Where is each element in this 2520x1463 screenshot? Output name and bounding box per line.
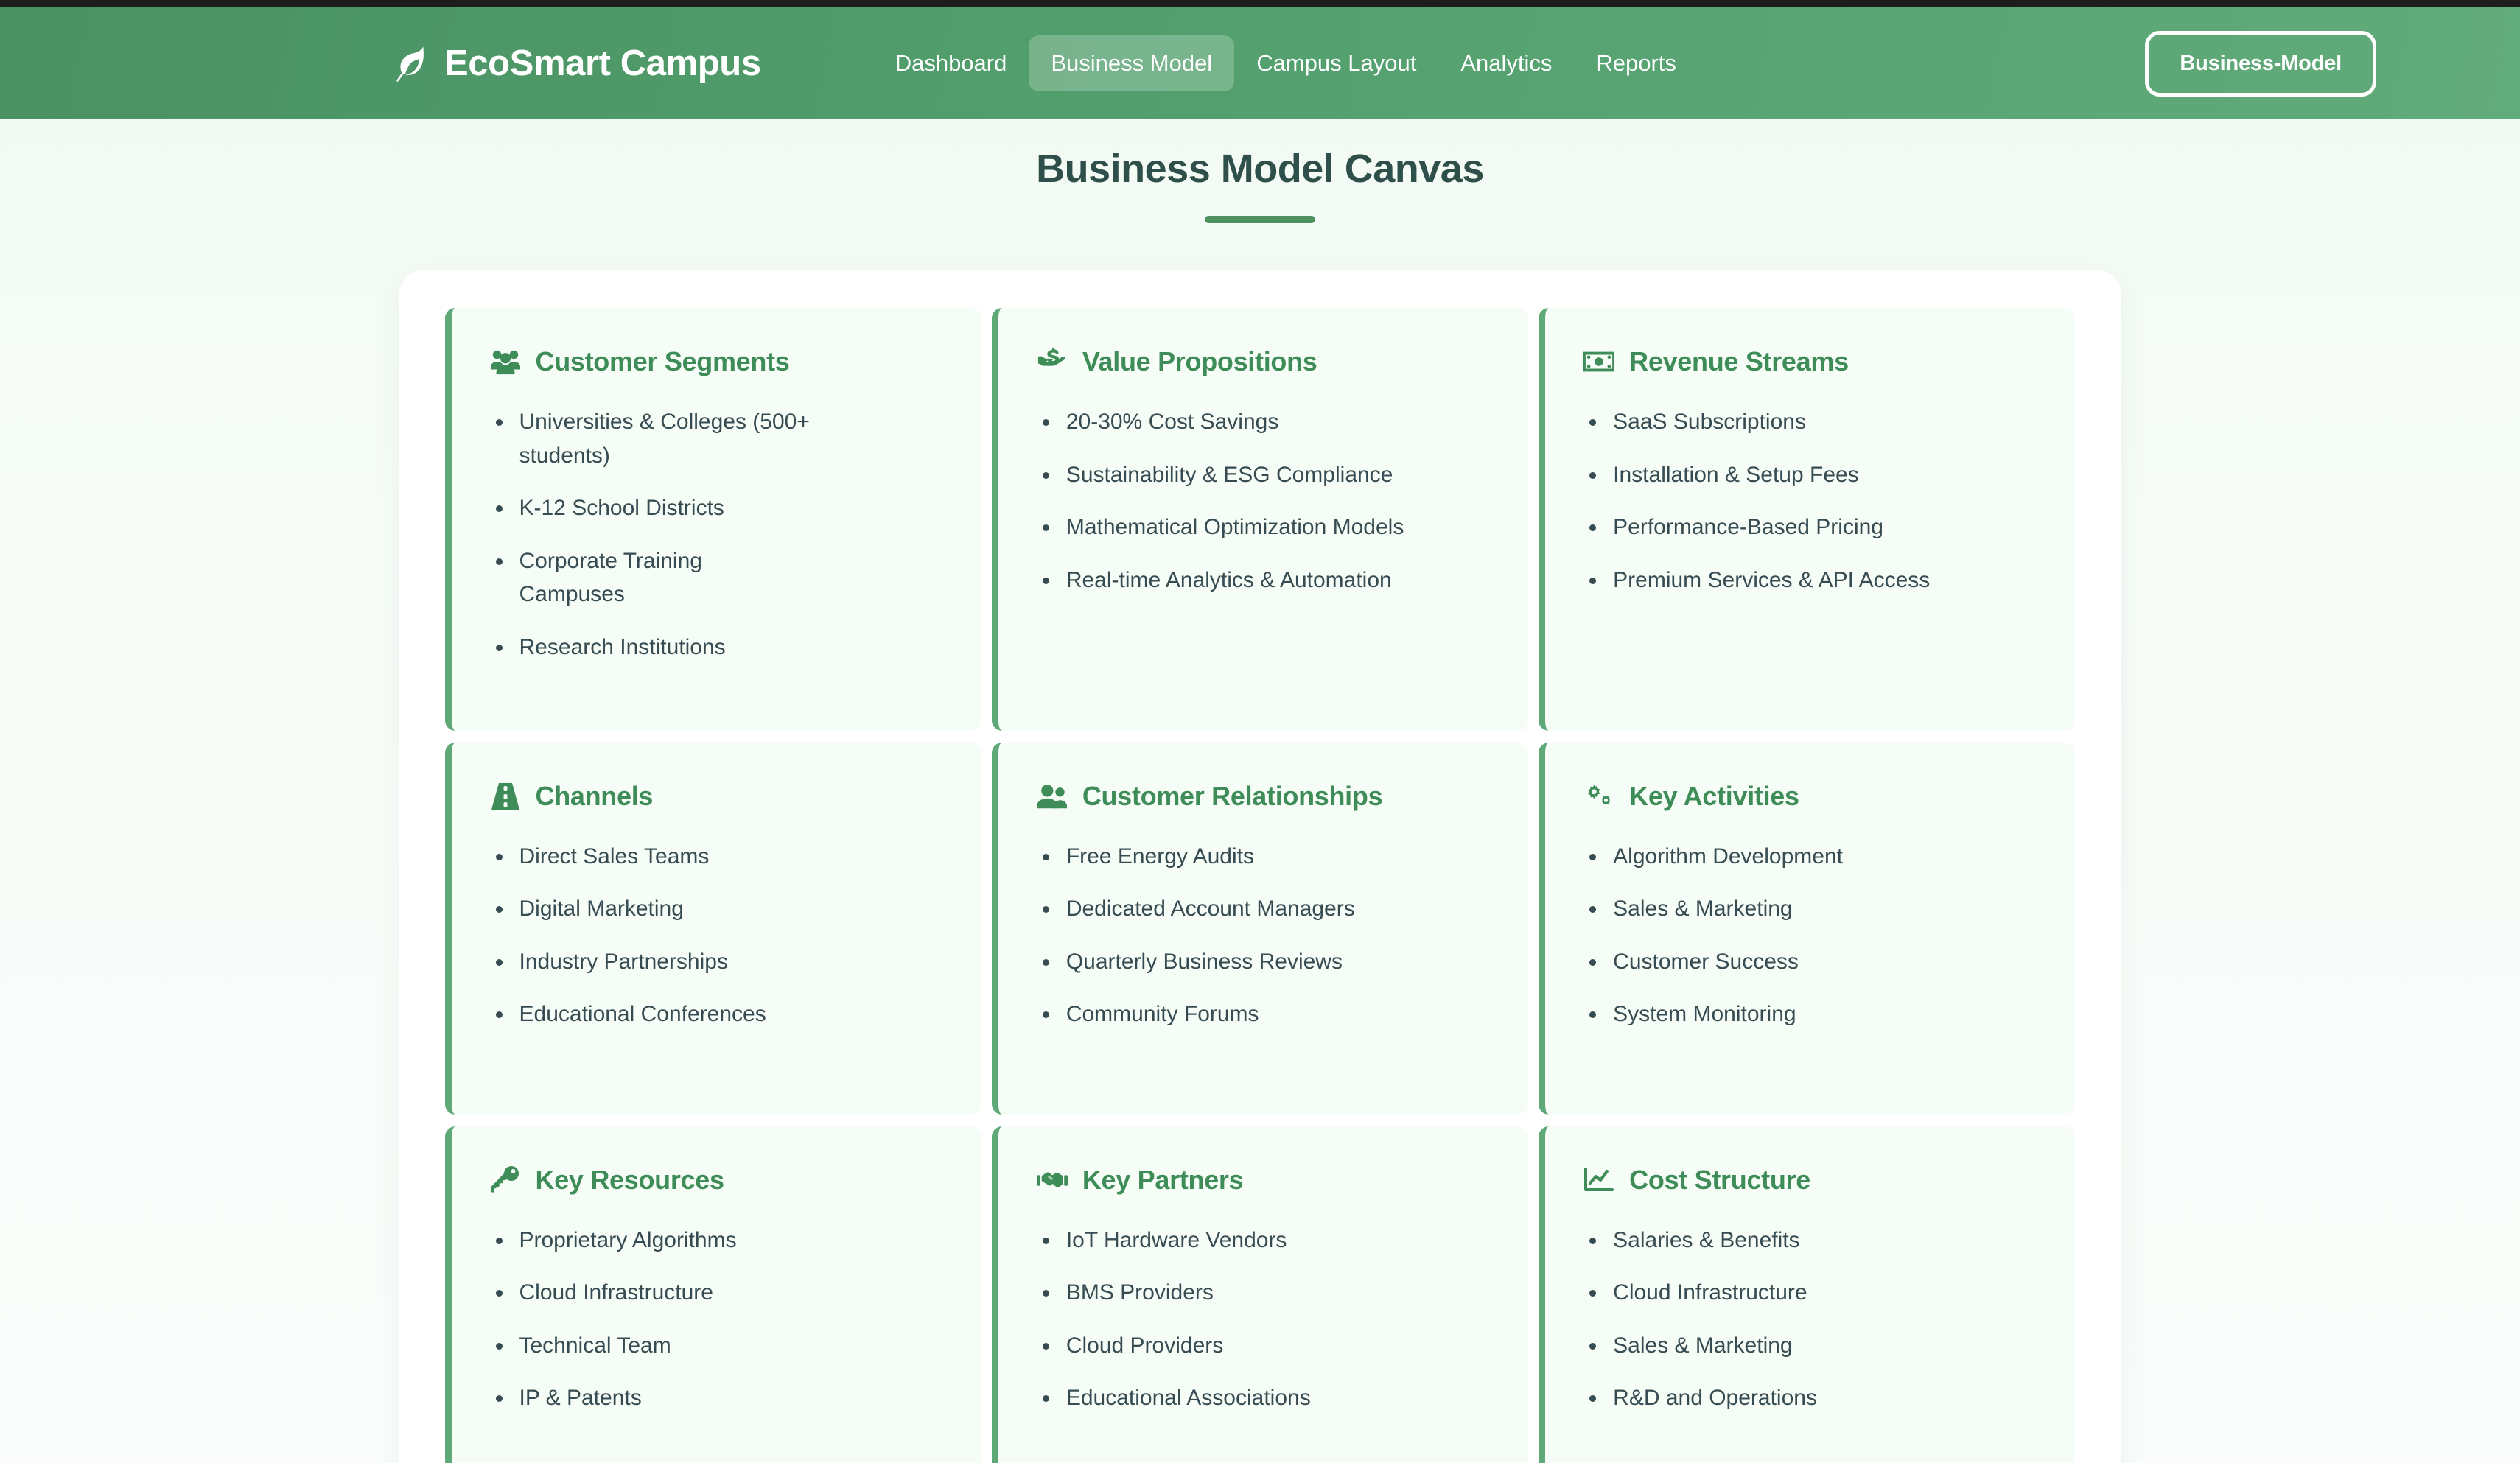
block-header: Key Activities xyxy=(1583,781,2040,812)
block-title: Key Partners xyxy=(1082,1165,1244,1196)
block-list-item: Quarterly Business Reviews xyxy=(1037,945,1493,979)
block-list-item: System Monitoring xyxy=(1583,997,2040,1031)
window-top-strip xyxy=(0,0,2520,7)
canvas-block-value-propositions: Value Propositions20-30% Cost SavingsSus… xyxy=(992,308,1528,731)
block-header: Cost Structure xyxy=(1583,1165,2040,1196)
block-list-item: Digital Marketing xyxy=(490,892,814,926)
block-list-item: Sales & Marketing xyxy=(1583,892,2040,926)
block-list-item: Research Institutions xyxy=(490,631,814,664)
block-list-item: Industry Partnerships xyxy=(490,945,814,979)
business-model-canvas-container: Customer SegmentsUniversities & Colleges… xyxy=(399,270,2121,1463)
users-group-icon xyxy=(490,346,521,377)
page-title: Business Model Canvas xyxy=(0,146,2520,192)
block-list-item: Technical Team xyxy=(490,1329,814,1363)
road-icon xyxy=(490,781,521,812)
canvas-block-customer-relationships: Customer RelationshipsFree Energy Audits… xyxy=(992,743,1528,1115)
block-item-list: SaaS SubscriptionsInstallation & Setup F… xyxy=(1583,405,2040,597)
block-header: Channels xyxy=(490,781,946,812)
nav-link-reports[interactable]: Reports xyxy=(1574,35,1698,91)
block-header: Customer Relationships xyxy=(1037,781,1493,812)
block-title: Channels xyxy=(536,781,654,812)
block-list-item: Corporate Training Campuses xyxy=(490,544,814,611)
block-header: Key Partners xyxy=(1037,1165,1493,1196)
block-header: Value Propositions xyxy=(1037,346,1493,377)
block-list-item: Customer Success xyxy=(1583,945,2040,979)
block-list-item: IoT Hardware Vendors xyxy=(1037,1224,1493,1257)
block-list-item: Educational Conferences xyxy=(490,997,814,1031)
nav-link-analytics[interactable]: Analytics xyxy=(1438,35,1574,91)
page-body: Business Model Canvas Customer SegmentsU… xyxy=(0,119,2520,1463)
nav-link-dashboard[interactable]: Dashboard xyxy=(873,35,1029,91)
canvas-grid: Customer SegmentsUniversities & Colleges… xyxy=(445,308,2076,1463)
chart-line-icon xyxy=(1583,1165,1614,1196)
nav-link-campus-layout[interactable]: Campus Layout xyxy=(1234,35,1438,91)
canvas-block-key-activities: Key ActivitiesAlgorithm DevelopmentSales… xyxy=(1539,743,2075,1115)
block-list-item: Proprietary Algorithms xyxy=(490,1224,814,1257)
key-icon xyxy=(490,1165,521,1196)
block-list-item: Cloud Providers xyxy=(1037,1329,1493,1363)
block-list-item: Algorithm Development xyxy=(1583,840,2040,874)
block-list-item: Real-time Analytics & Automation xyxy=(1037,564,1493,597)
hand-holding-dollar-icon xyxy=(1037,346,1068,377)
block-title: Value Propositions xyxy=(1082,346,1317,377)
block-title: Revenue Streams xyxy=(1629,346,1849,377)
block-list-item: Premium Services & API Access xyxy=(1583,564,2040,597)
canvas-block-key-partners: Key PartnersIoT Hardware VendorsBMS Prov… xyxy=(992,1126,1528,1463)
block-item-list: Salaries & BenefitsCloud InfrastructureS… xyxy=(1583,1224,2040,1415)
canvas-block-revenue-streams: Revenue StreamsSaaS SubscriptionsInstall… xyxy=(1539,308,2075,731)
page-title-section: Business Model Canvas xyxy=(0,119,2520,223)
block-list-item: K-12 School Districts xyxy=(490,491,814,525)
block-list-item: Cloud Infrastructure xyxy=(490,1276,814,1310)
business-model-badge-button[interactable]: Business-Model xyxy=(2145,31,2376,97)
cogs-icon xyxy=(1583,781,1614,812)
block-list-item: Sales & Marketing xyxy=(1583,1329,2040,1363)
title-underline-rule xyxy=(1205,216,1315,223)
block-list-item: Free Energy Audits xyxy=(1037,840,1493,874)
block-title: Cost Structure xyxy=(1629,1165,1810,1196)
block-list-item: Installation & Setup Fees xyxy=(1583,458,2040,492)
block-list-item: Educational Associations xyxy=(1037,1381,1493,1415)
canvas-block-key-resources: Key ResourcesProprietary AlgorithmsCloud… xyxy=(445,1126,981,1463)
block-list-item: Dedicated Account Managers xyxy=(1037,892,1493,926)
top-navbar: EcoSmart Campus Dashboard Business Model… xyxy=(0,7,2520,119)
block-item-list: IoT Hardware VendorsBMS ProvidersCloud P… xyxy=(1037,1224,1493,1415)
block-list-item: R&D and Operations xyxy=(1583,1381,2040,1415)
block-list-item: BMS Providers xyxy=(1037,1276,1493,1310)
brand-name: EcoSmart Campus xyxy=(444,43,761,84)
canvas-block-cost-structure: Cost StructureSalaries & BenefitsCloud I… xyxy=(1539,1126,2075,1463)
nav-link-business-model[interactable]: Business Model xyxy=(1029,35,1234,91)
block-title: Key Activities xyxy=(1629,781,1799,812)
block-list-item: Performance-Based Pricing xyxy=(1583,511,2040,544)
brand-logo[interactable]: EcoSmart Campus xyxy=(394,43,761,84)
block-list-item: Sustainability & ESG Compliance xyxy=(1037,458,1493,492)
block-item-list: Algorithm DevelopmentSales & MarketingCu… xyxy=(1583,840,2040,1031)
block-item-list: Proprietary AlgorithmsCloud Infrastructu… xyxy=(490,1224,946,1415)
block-title: Key Resources xyxy=(536,1165,724,1196)
block-header: Key Resources xyxy=(490,1165,946,1196)
canvas-block-channels: ChannelsDirect Sales TeamsDigital Market… xyxy=(445,743,981,1115)
block-title: Customer Segments xyxy=(536,346,790,377)
block-list-item: Universities & Colleges (500+ students) xyxy=(490,405,814,472)
block-list-item: IP & Patents xyxy=(490,1381,814,1415)
handshake-icon xyxy=(1037,1165,1068,1196)
block-list-item: SaaS Subscriptions xyxy=(1583,405,2040,439)
block-item-list: Universities & Colleges (500+ students)K… xyxy=(490,405,946,664)
block-list-item: Community Forums xyxy=(1037,997,1493,1031)
block-header: Customer Segments xyxy=(490,346,946,377)
block-list-item: 20-30% Cost Savings xyxy=(1037,405,1493,439)
block-list-item: Direct Sales Teams xyxy=(490,840,814,874)
leaf-icon xyxy=(394,44,428,83)
block-item-list: Direct Sales TeamsDigital MarketingIndus… xyxy=(490,840,946,1031)
user-friends-icon xyxy=(1037,781,1068,812)
block-item-list: 20-30% Cost SavingsSustainability & ESG … xyxy=(1037,405,1493,597)
block-list-item: Mathematical Optimization Models xyxy=(1037,511,1493,544)
money-bill-icon xyxy=(1583,346,1614,377)
block-item-list: Free Energy AuditsDedicated Account Mana… xyxy=(1037,840,1493,1031)
block-title: Customer Relationships xyxy=(1082,781,1382,812)
canvas-block-customer-segments: Customer SegmentsUniversities & Colleges… xyxy=(445,308,981,731)
nav-links: Dashboard Business Model Campus Layout A… xyxy=(873,35,1698,91)
block-header: Revenue Streams xyxy=(1583,346,2040,377)
block-list-item: Salaries & Benefits xyxy=(1583,1224,2040,1257)
block-list-item: Cloud Infrastructure xyxy=(1583,1276,2040,1310)
